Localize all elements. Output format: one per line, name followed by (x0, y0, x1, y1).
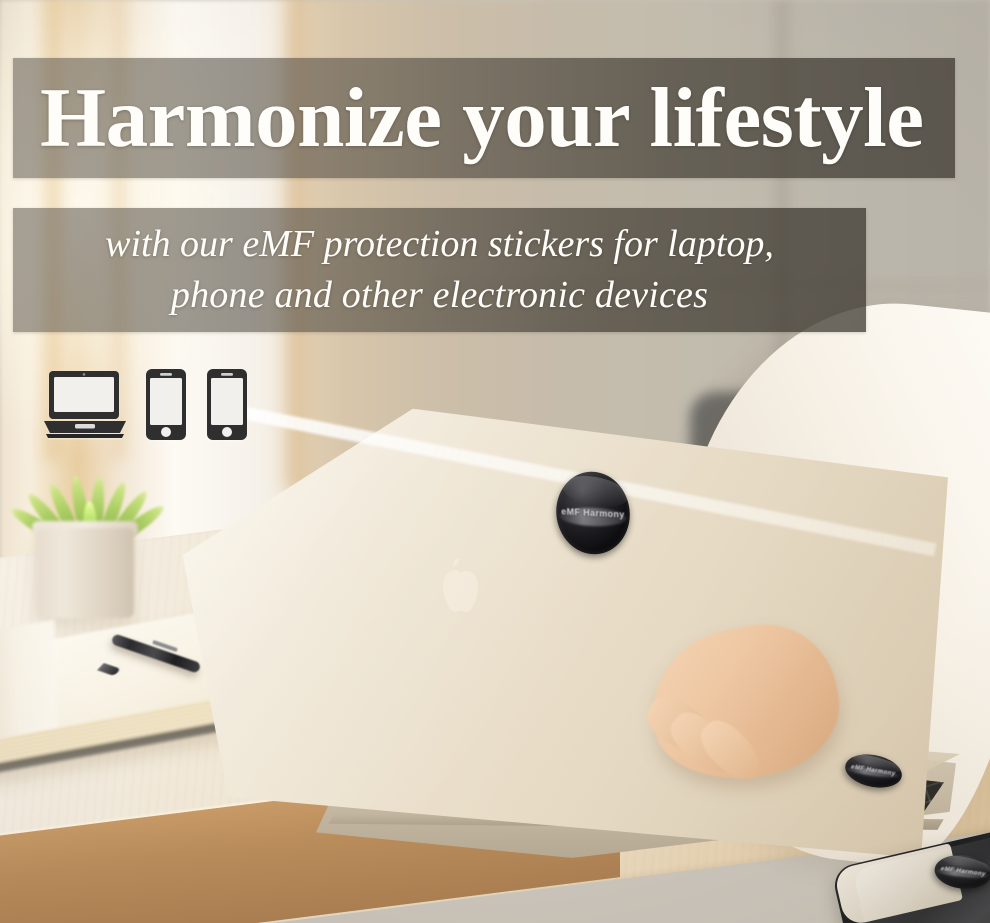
subtitle-band: with our eMF protection stickers for lap… (13, 208, 866, 332)
subtitle-line-1: with our eMF protection stickers for lap… (105, 219, 774, 270)
promo-banner-image: eMF Harmony eMF Harmony eMF Harmony (0, 0, 990, 923)
page-subtitle: with our eMF protection stickers for lap… (83, 219, 796, 321)
subtitle-line-2: phone and other electronic devices (105, 270, 774, 321)
device-icon-row (44, 368, 248, 441)
apple-logo-icon (430, 556, 482, 616)
laptop-icon (44, 369, 126, 441)
headline-band: Harmonize your lifestyle (13, 58, 955, 178)
phone-icon (145, 368, 187, 441)
plant-pot (36, 528, 134, 618)
page-title: Harmonize your lifestyle (13, 76, 923, 161)
phone-icon (206, 368, 248, 441)
